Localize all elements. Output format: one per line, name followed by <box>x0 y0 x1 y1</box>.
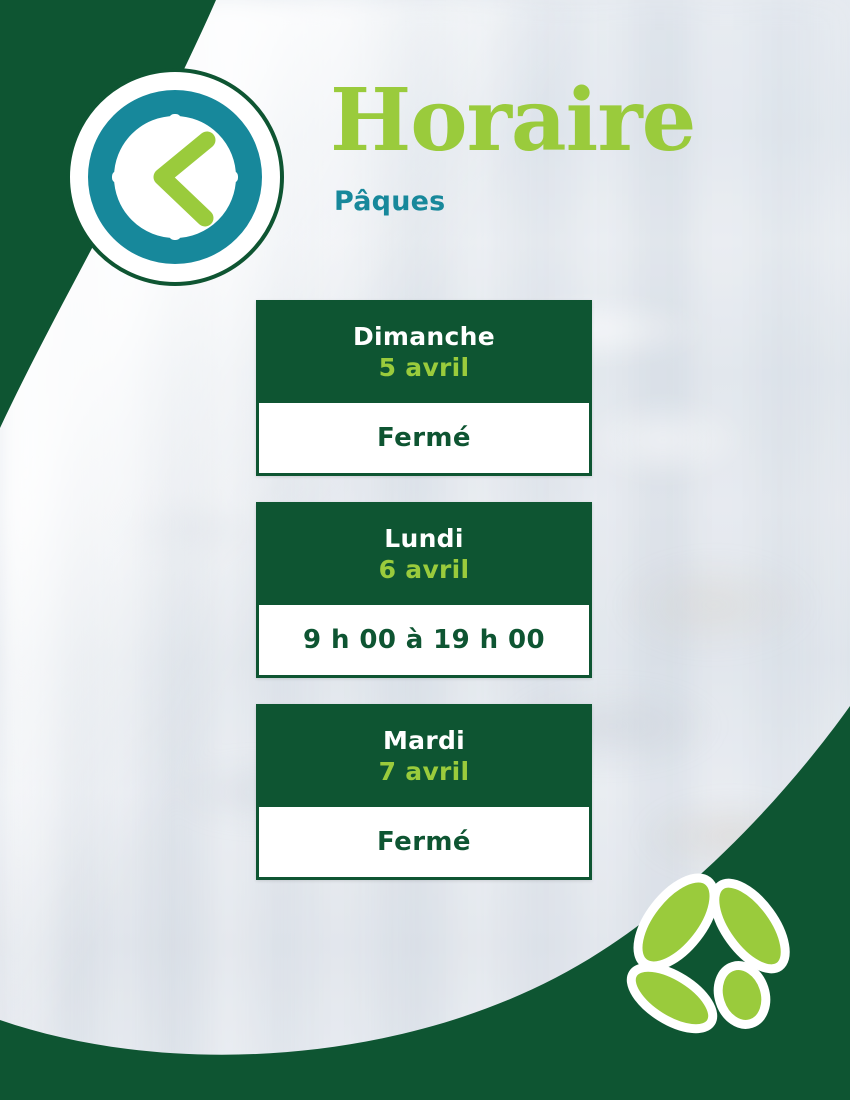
schedule-card-day: Dimanche <box>266 322 582 353</box>
butterfly-icon <box>614 858 814 1058</box>
schedule-card-body: Fermé <box>256 403 592 476</box>
clock-icon-svg <box>66 68 284 286</box>
schedule-card-date: 6 avril <box>266 555 582 586</box>
schedule-poster: Horaire Pâques Dimanche 5 avril Fermé Lu… <box>0 0 850 1100</box>
title-block: Horaire Pâques <box>330 78 800 217</box>
schedule-card: Dimanche 5 avril Fermé <box>256 300 592 476</box>
schedule-card-hours: 9 h 00 à 19 h 00 <box>267 625 581 655</box>
schedule-card-header: Mardi 7 avril <box>256 704 592 807</box>
schedule-card-list: Dimanche 5 avril Fermé Lundi 6 avril 9 h… <box>256 300 592 906</box>
schedule-card-body: 9 h 00 à 19 h 00 <box>256 605 592 678</box>
schedule-card-header: Dimanche 5 avril <box>256 300 592 403</box>
schedule-card: Mardi 7 avril Fermé <box>256 704 592 880</box>
schedule-card-header: Lundi 6 avril <box>256 502 592 605</box>
schedule-card-hours: Fermé <box>267 423 581 453</box>
page-title: Horaire <box>330 78 800 164</box>
schedule-card: Lundi 6 avril 9 h 00 à 19 h 00 <box>256 502 592 678</box>
schedule-card-hours: Fermé <box>267 827 581 857</box>
schedule-card-date: 7 avril <box>266 757 582 788</box>
schedule-card-date: 5 avril <box>266 353 582 384</box>
schedule-card-day: Lundi <box>266 524 582 555</box>
butterfly-icon-svg <box>614 858 814 1058</box>
schedule-card-body: Fermé <box>256 807 592 880</box>
clock-icon <box>66 68 284 286</box>
schedule-card-day: Mardi <box>266 726 582 757</box>
page-subtitle: Pâques <box>334 186 800 217</box>
